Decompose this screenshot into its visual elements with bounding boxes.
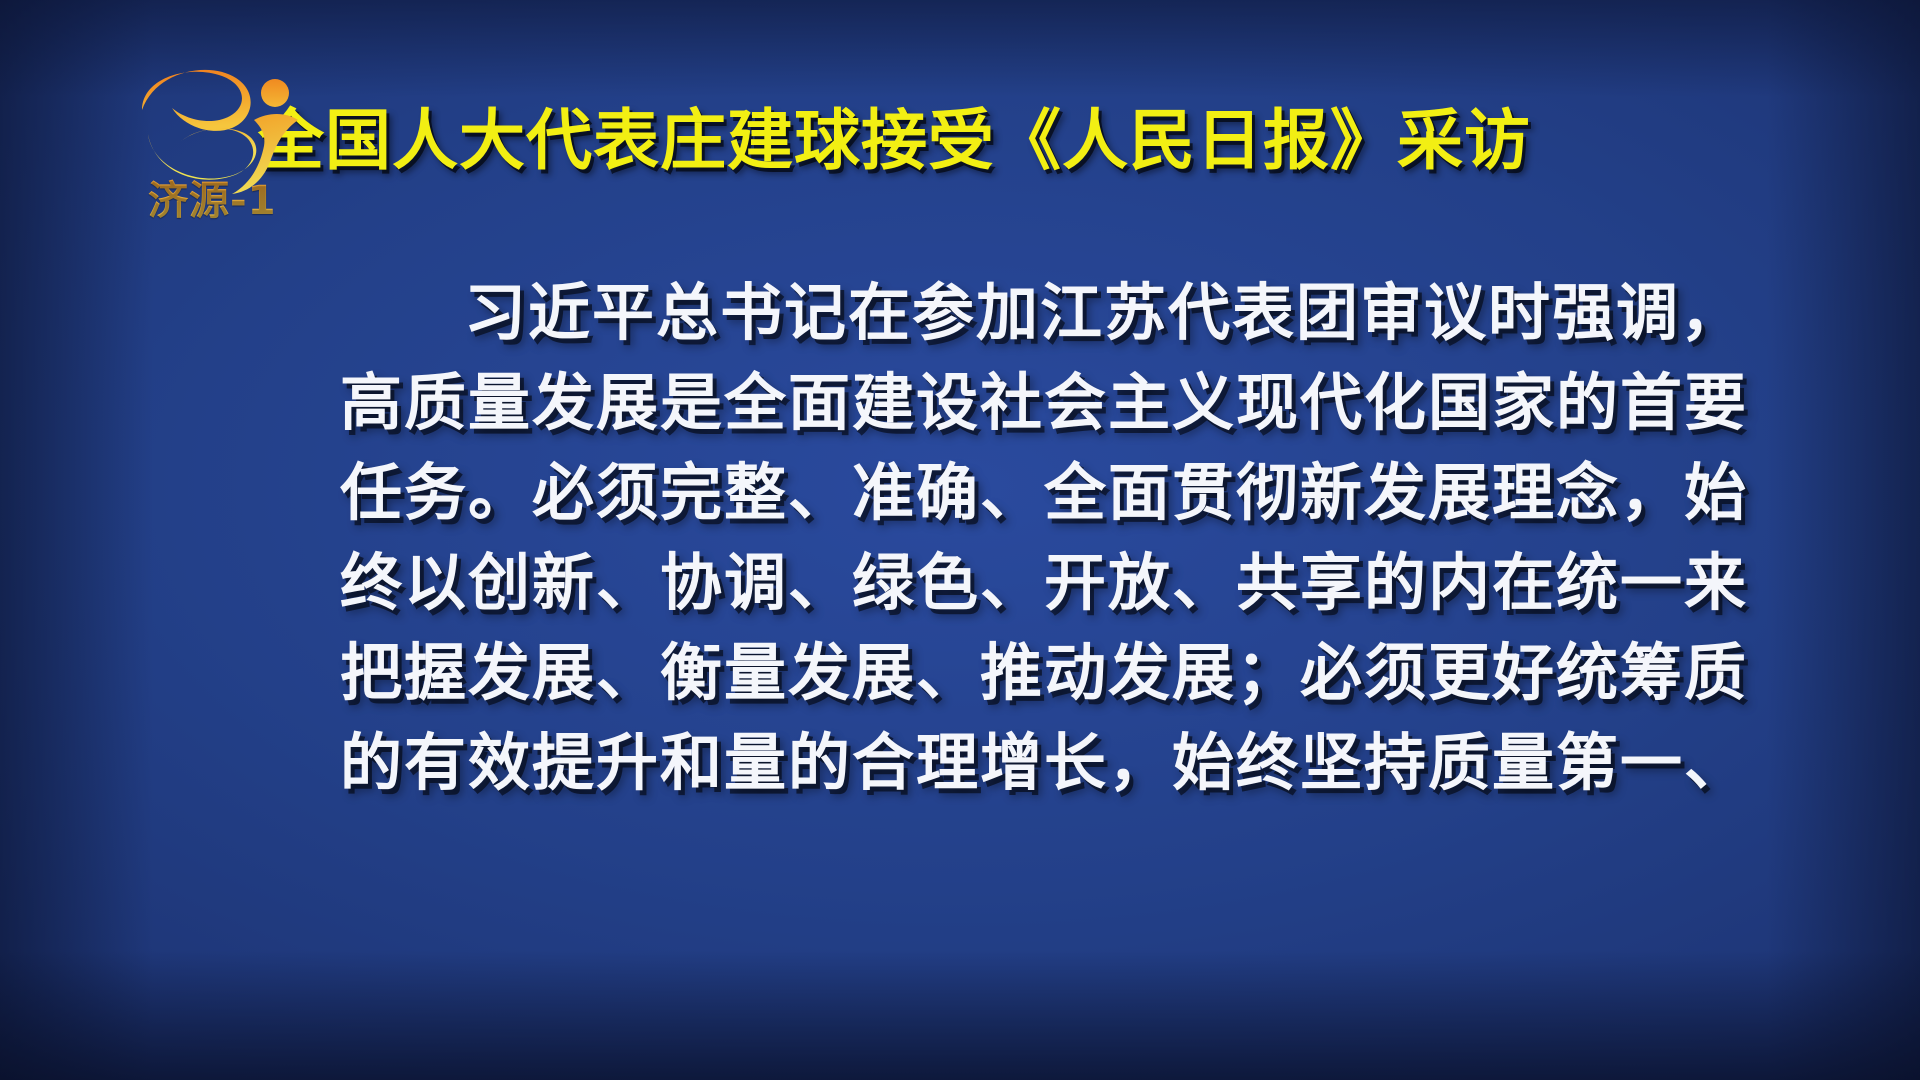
body-line: 任务。必须完整、准确、全面贯彻新发展理念，始 bbox=[340, 448, 1580, 538]
channel-logo-text: 济源-1 bbox=[148, 168, 276, 226]
broadcast-screen: 济源-1 全国人大代表庄建球接受《人民日报》采访 习近平总书记在参加江苏代表团审… bbox=[0, 0, 1920, 1080]
body-line: 高质量发展是全面建设社会主义现代化国家的首要 bbox=[340, 358, 1580, 448]
headline-title: 全国人大代表庄建球接受《人民日报》采访 bbox=[258, 108, 1531, 174]
channel-logo: 济源-1 bbox=[126, 58, 386, 218]
body-line: 终以创新、协调、绿色、开放、共享的内在统一来 bbox=[340, 538, 1580, 628]
body-line: 的有效提升和量的合理增长，始终坚持质量第一、 bbox=[340, 718, 1580, 808]
body-line: 把握发展、衡量发展、推动发展；必须更好统筹质 bbox=[340, 628, 1580, 718]
body-line: 习近平总书记在参加江苏代表团审议时强调， bbox=[340, 268, 1580, 358]
body-paragraph: 习近平总书记在参加江苏代表团审议时强调， 高质量发展是全面建设社会主义现代化国家… bbox=[0, 268, 1920, 808]
